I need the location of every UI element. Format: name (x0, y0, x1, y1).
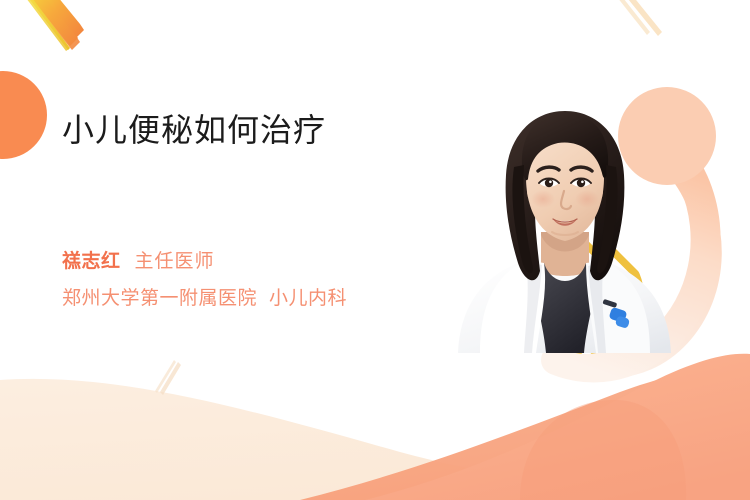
page-title: 小儿便秘如何治疗 (62, 108, 462, 152)
diagonal-stripe-top-left (18, 0, 84, 52)
doctor-portrait (440, 95, 690, 395)
text-content: 小儿便秘如何治疗 禚志红主任医师 郑州大学第一附属医院小儿内科 (62, 108, 462, 314)
diagonal-stripe-bottom-left (155, 360, 181, 395)
department-name: 小儿内科 (269, 288, 347, 309)
diagonal-stripe-top-right (617, 0, 662, 36)
doctor-name: 禚志红 (62, 251, 121, 272)
hospital-name: 郑州大学第一附属医院 (62, 288, 257, 309)
cheek-left (531, 190, 555, 208)
doctor-promo-card: 小儿便秘如何治疗 禚志红主任医师 郑州大学第一附属医院小儿内科 (0, 0, 750, 500)
doctor-portrait-illustration (440, 95, 690, 395)
doctor-byline: 禚志红主任医师 (62, 247, 462, 277)
cheek-right (575, 190, 599, 208)
orange-circle-left (0, 71, 47, 159)
hospital-byline: 郑州大学第一附属医院小儿内科 (62, 284, 462, 314)
coral-blob-accent (520, 400, 686, 500)
cream-wave-bottom (0, 379, 750, 500)
doctor-title: 主任医师 (135, 251, 215, 272)
